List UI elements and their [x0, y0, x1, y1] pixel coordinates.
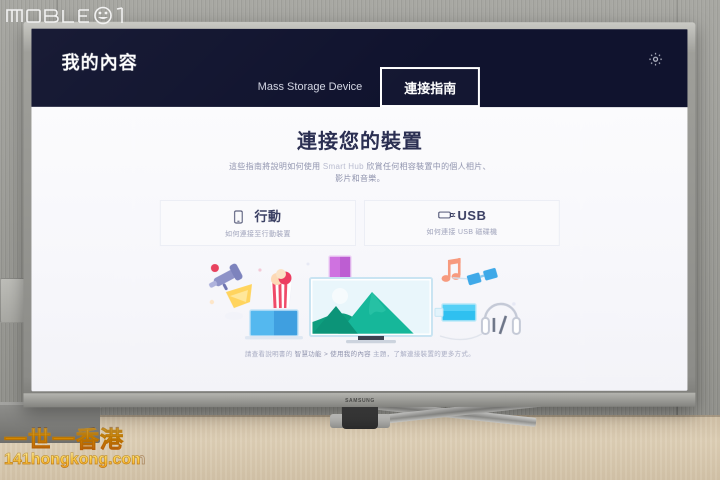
tv-chin: SAMSUNG: [23, 393, 695, 408]
usb-drive-icon: [437, 210, 451, 222]
tab-connection-guide[interactable]: 連接指南: [380, 67, 480, 107]
content-footnote: 請查看說明書的 智慧功能 > 使用我的內容 主題，了解連接裝置的更多方式。: [31, 348, 687, 358]
subtitle-part-1: 這些指南將說明如何使用: [229, 162, 323, 171]
card-mobile-subtitle: 如何連接至行動裝置: [225, 229, 291, 239]
subtitle-part-2: 欣賞任何相容裝置中的個人相片、: [364, 162, 491, 171]
footnote-part-2: 主題，了解連接裝置的更多方式。: [371, 351, 475, 358]
content-heading: 連接您的裝置: [31, 125, 687, 154]
gear-icon[interactable]: [648, 51, 664, 67]
tab-bar: Mass Storage Device 連接指南: [31, 67, 687, 107]
television: SAMSUNG 我的內容 Mass Storage Device 連接指南: [24, 22, 696, 422]
footnote-path: 智慧功能 > 使用我的內容: [295, 351, 371, 358]
card-mobile-title-row: 行動: [234, 206, 281, 225]
card-mobile[interactable]: 行動 如何連接至行動裝置: [160, 200, 356, 246]
media-devices-illustration: [190, 252, 530, 344]
samsung-logo: SAMSUNG: [345, 398, 375, 404]
mobile-phone-icon: [234, 210, 248, 222]
tv-screen: 我的內容 Mass Storage Device 連接指南 連接您的裝: [31, 29, 687, 392]
option-cards: 行動 如何連接至行動裝置: [31, 200, 687, 246]
subtitle-line-2: 影片和音樂。: [335, 174, 385, 183]
smart-hub-ui: 我的內容 Mass Storage Device 連接指南 連接您的裝: [31, 29, 687, 392]
wall-panel-left: [0, 278, 26, 323]
watermark-en-text: 141hongkong.com: [4, 452, 140, 468]
card-usb-title-row: USB: [437, 208, 486, 223]
card-mobile-label: 行動: [254, 206, 281, 225]
tab-mass-storage-device[interactable]: Mass Storage Device: [240, 67, 381, 107]
content-subtitle: 這些指南將說明如何使用 Smart Hub 欣賞任何相容裝置中的個人相片、 影片…: [31, 161, 687, 186]
card-usb[interactable]: USB 如何連接 USB 磁碟機: [364, 200, 560, 246]
ui-body: 連接您的裝置 這些指南將說明如何使用 Smart Hub 欣賞任何相容裝置中的個…: [31, 107, 687, 391]
watermark-mobile01: [4, 2, 128, 28]
tv-neck: [342, 405, 378, 429]
tv-bezel: SAMSUNG 我的內容 Mass Storage Device 連接指南: [23, 22, 695, 408]
subtitle-smart-hub: Smart Hub: [323, 162, 364, 171]
card-usb-label: USB: [457, 208, 486, 223]
card-usb-subtitle: 如何連接 USB 磁碟機: [427, 227, 498, 237]
watermark-141hongkong: 一世一香港 141hongkong.com: [4, 428, 140, 476]
ui-header: 我的內容 Mass Storage Device 連接指南: [31, 29, 687, 107]
watermark-cn-text: 一世一香港: [4, 428, 140, 451]
footnote-part-1: 請查看說明書的: [245, 351, 295, 358]
